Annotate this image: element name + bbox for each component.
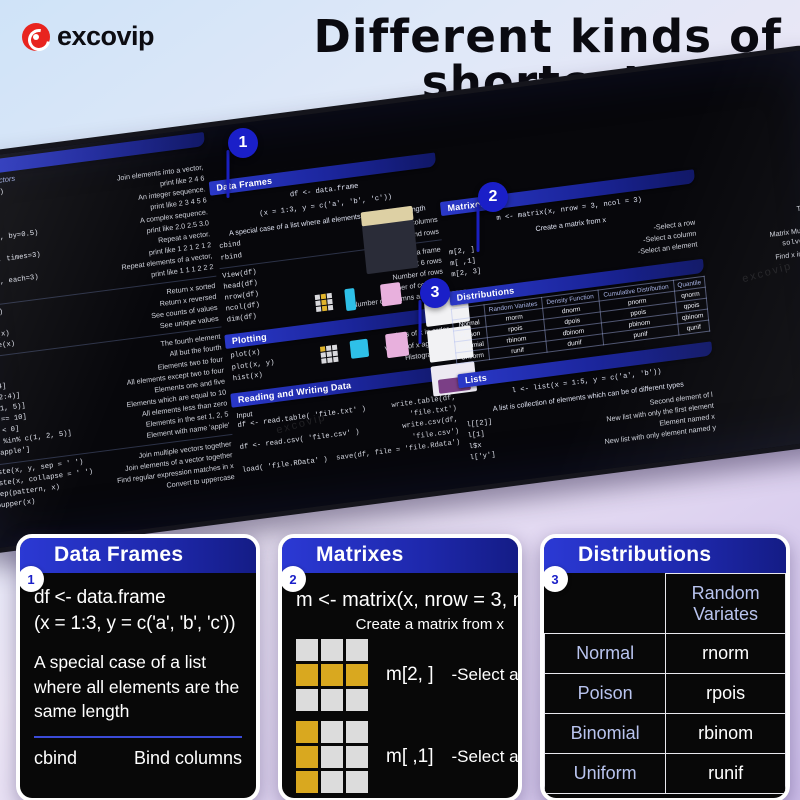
badge-number[interactable]: 2 [478,182,508,212]
cell [321,358,326,364]
dist-value: rbinom [666,714,786,754]
cell [296,771,318,793]
cell [327,351,332,357]
mousepad-stage: Vectors Creating Vectors c(2, 4, 6)Join … [0,122,800,552]
table-row: Binomial rbinom [545,714,786,754]
callout-matrix-desc-1: -Select a row [452,665,522,685]
badge-stem [227,150,230,198]
code: l['y'] [469,450,496,464]
cell [296,746,318,768]
cell [296,664,318,686]
matrix-grid-col-selected [296,721,368,793]
callout-matrix-code-1: m[2, ] [386,664,434,686]
thumb-grid-a [315,293,334,312]
col-header-random-variates: Random Variates [666,574,786,634]
callout-matrix-row-1: m[2, ] -Select a row [296,639,504,711]
callout-distributions-table: Random Variates Normal rnorm Poison rpoi… [544,573,786,794]
cell [321,639,343,661]
cell [346,664,368,686]
callout-card-distributions[interactable]: 3 Distributions Random Variates Normal r… [540,534,790,800]
mousepad-product-image: Vectors Creating Vectors c(2, 4, 6)Join … [0,44,800,555]
callout-body-matrixes: m <- matrix(x, nrow = 3, ncol = 3) Creat… [282,573,518,800]
cell [346,746,368,768]
cell [321,664,343,686]
cell [316,306,321,312]
brand-logo: excovip [22,21,154,52]
cell [320,346,325,352]
callout-note: A special case of a list where all eleme… [34,650,242,724]
dist-label: Normal [545,634,666,674]
cell [315,294,320,300]
header-line-1: Random [670,583,781,604]
cell [321,689,343,711]
cell [346,689,368,711]
header-line-2: Variates [670,604,781,625]
callout-matrix-row-2: m[ ,1] -Select a column [296,721,504,793]
matrix-grid-row-selected [296,639,368,711]
callout-title-data-frames: Data Frames [20,538,256,573]
cell [346,639,368,661]
badge-number[interactable]: 1 [228,128,258,158]
badge-stem [419,300,422,344]
callout-card-data-frames[interactable]: 1 Data Frames df <- data.frame (x = 1:3,… [16,534,260,800]
table-row: Uniform runif [545,754,786,794]
cell [296,689,318,711]
callout-matrix-code: m <- matrix(x, nrow = 3, ncol = 3) [296,589,504,612]
dist-value: rpois [666,674,786,714]
thumb-pink-block-2 [385,332,409,359]
callout-card-matrixes[interactable]: 2 Matrixes m <- matrix(x, nrow = 3, ncol… [278,534,522,800]
callout-kv-value: Bind columns [134,748,242,769]
cell [346,721,368,743]
dist-label: Poison [545,674,666,714]
callout-code-line-1: df <- data.frame [34,585,242,611]
cell [328,305,333,311]
cell [321,300,326,306]
code: rbind [220,251,243,265]
pad-section-matrix-ops: t(m) Transpose m %*% n Matrix Multiplica… [554,158,800,290]
callout-title-distributions: Distributions [544,538,786,573]
code: m[2, 3] [451,266,482,281]
cell [296,639,318,661]
dist-label: Uniform [545,754,666,794]
callout-number-1: 1 [18,566,44,592]
excovip-logo-icon [22,23,50,51]
cell [332,351,337,357]
pad-section-vectors: Vectors Creating Vectors c(2, 4, 6)Join … [0,132,239,514]
thumb-pink-block [380,282,402,306]
dist-value: rnorm [666,634,786,674]
callout-body-data-frames: df <- data.frame (x = 1:3, y = c('a', 'b… [20,573,256,781]
callout-matrix-code-2: m[ ,1] [386,746,434,768]
badge-number[interactable]: 3 [420,278,450,308]
cell [327,299,332,305]
callout-code-line-2: (x = 1:3, y = c('a', 'b', 'c')) [34,611,242,637]
table-header-row: Random Variates [545,574,786,634]
table-row: Poison rpois [545,674,786,714]
dist-value: runif [666,754,786,794]
table-row: Normal rnorm [545,634,786,674]
cell [321,294,326,300]
badge-stem [477,204,480,252]
cell [321,746,343,768]
cell [321,352,326,358]
callout-kv-key: cbind [34,748,77,769]
callout-kv-row: cbind Bind columns [34,748,242,769]
callout-number-2: 2 [280,566,306,592]
callout-title-matrixes: Matrixes [282,538,518,573]
thumb-blue-col [344,288,356,311]
thumb-blue-block [350,339,370,359]
cell [321,771,343,793]
cell [327,357,332,363]
cell [321,721,343,743]
code: dim(df) [226,312,257,327]
callout-matrix-desc-2: -Select a column [452,747,522,767]
dist-label: Binomial [545,714,666,754]
cell [322,306,327,312]
code: hist(x) [232,370,263,385]
cell [346,771,368,793]
cell [327,293,332,299]
brand-name: excovip [57,21,154,52]
callout-matrix-note: Create a matrix from x [296,616,504,633]
cell [296,721,318,743]
cell [333,357,338,363]
thumb-grid-b [320,345,339,364]
cell [332,345,337,351]
callout-number-3: 3 [542,566,568,592]
cell [326,345,331,351]
cell [315,300,320,306]
divider [34,736,242,738]
